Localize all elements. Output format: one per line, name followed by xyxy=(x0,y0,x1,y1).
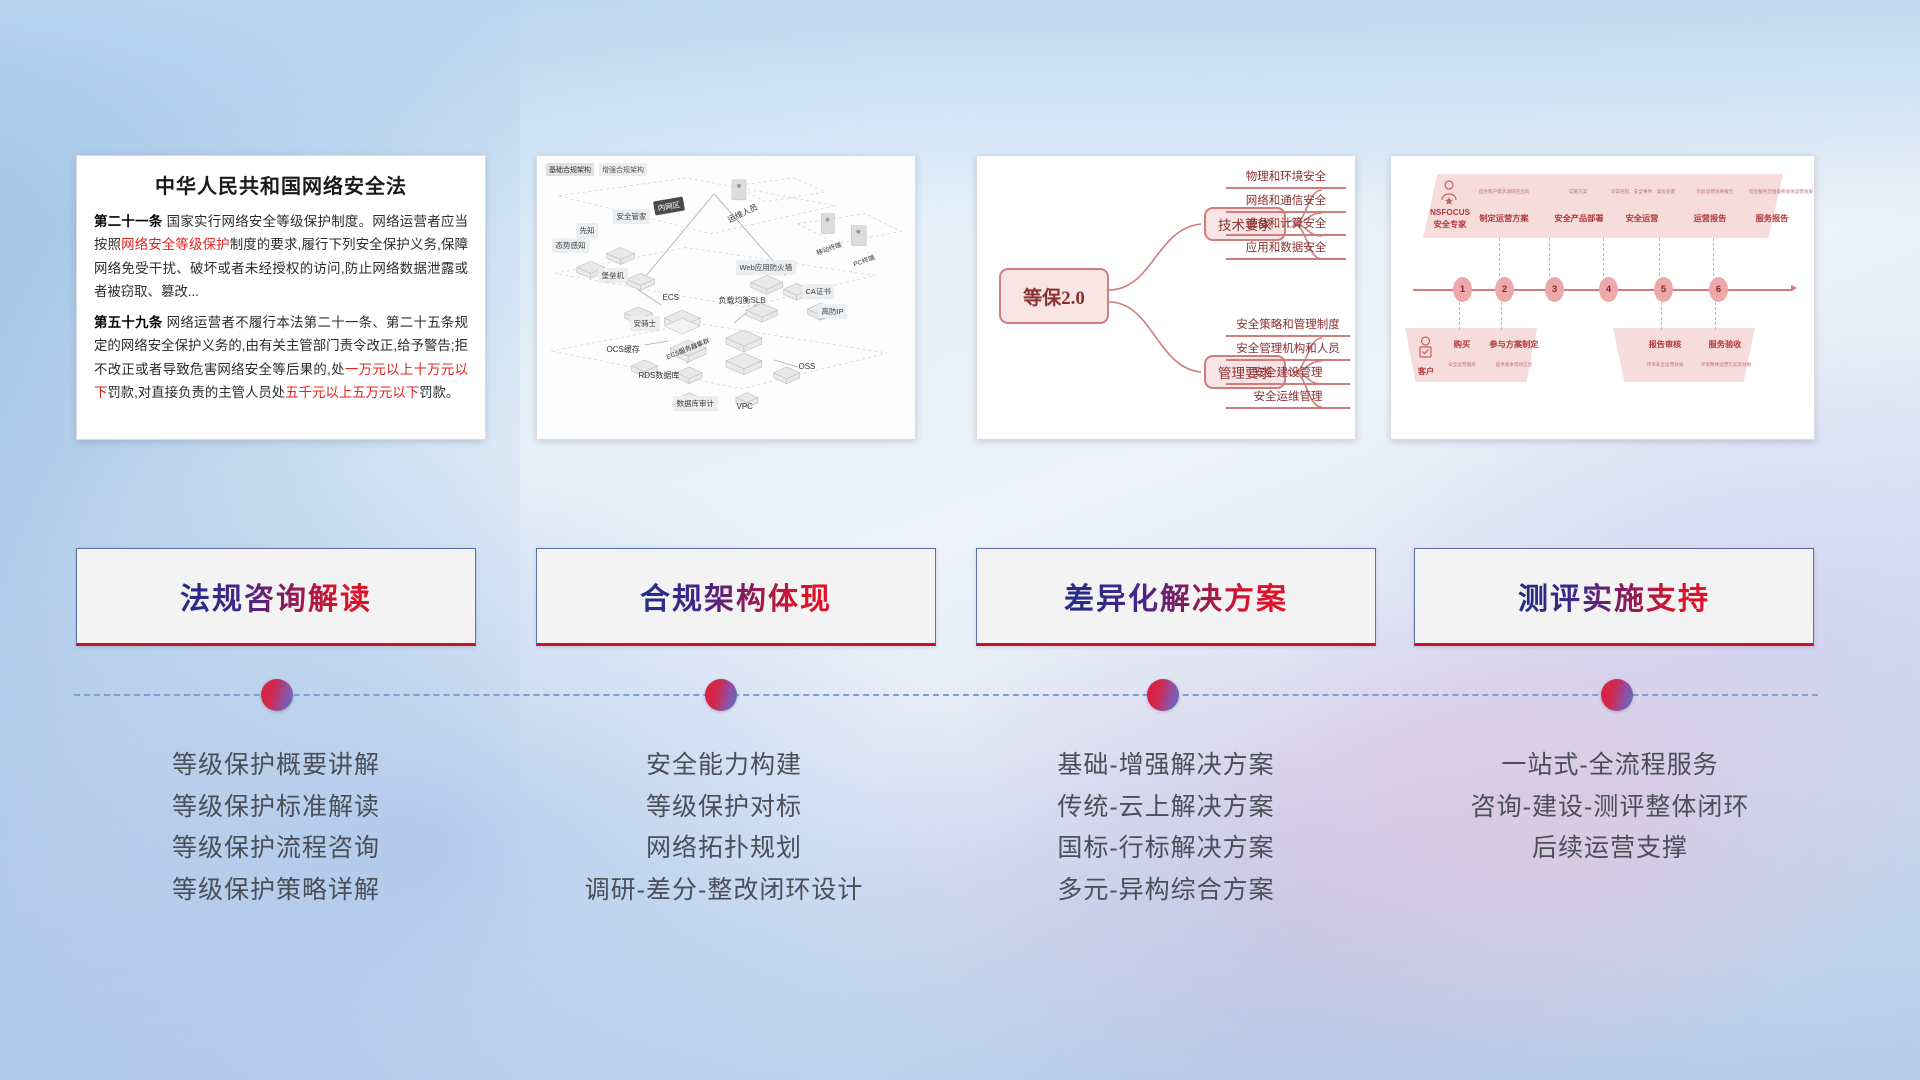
timeline-dot-1[interactable] xyxy=(261,679,293,711)
timeline-dot-4[interactable] xyxy=(1601,679,1633,711)
section-titles: 法规咨询解读 合规架构体现 差异化解决方案 测评实施支持 xyxy=(0,0,1920,1080)
list-item: 后续运营支撑 xyxy=(1410,828,1810,870)
list-item: 等级保护流程咨询 xyxy=(76,828,476,870)
list-item: 等级保护对标 xyxy=(524,787,924,829)
section-items-1: 等级保护概要讲解 等级保护标准解读 等级保护流程咨询 等级保护策略详解 xyxy=(76,745,476,911)
list-item: 基础-增强解决方案 xyxy=(966,745,1366,787)
section-title-box-4[interactable]: 测评实施支持 xyxy=(1414,548,1814,646)
timeline-rail xyxy=(74,694,1818,696)
list-item: 多元-异构综合方案 xyxy=(966,870,1366,912)
section-title-label-4: 测评实施支持 xyxy=(1518,574,1710,618)
list-item: 等级保护标准解读 xyxy=(76,787,476,829)
section-items-4: 一站式-全流程服务 咨询-建设-测评整体闭环 后续运营支撑 xyxy=(1410,745,1810,870)
section-title-box-1[interactable]: 法规咨询解读 xyxy=(76,548,476,646)
list-item: 咨询-建设-测评整体闭环 xyxy=(1410,787,1810,829)
timeline-dot-3[interactable] xyxy=(1147,679,1179,711)
list-item: 等级保护概要讲解 xyxy=(76,745,476,787)
timeline-dot-2[interactable] xyxy=(705,679,737,711)
list-item: 传统-云上解决方案 xyxy=(966,787,1366,829)
section-title-label-1: 法规咨询解读 xyxy=(180,574,372,618)
section-title-label-2: 合规架构体现 xyxy=(640,574,832,618)
section-title-box-3[interactable]: 差异化解决方案 xyxy=(976,548,1376,646)
list-item: 一站式-全流程服务 xyxy=(1410,745,1810,787)
section-title-box-2[interactable]: 合规架构体现 xyxy=(536,548,936,646)
list-item: 等级保护策略详解 xyxy=(76,870,476,912)
list-item: 国标-行标解决方案 xyxy=(966,828,1366,870)
list-item: 安全能力构建 xyxy=(524,745,924,787)
list-item: 网络拓扑规划 xyxy=(524,828,924,870)
section-items-3: 基础-增强解决方案 传统-云上解决方案 国标-行标解决方案 多元-异构综合方案 xyxy=(966,745,1366,911)
list-item: 调研-差分-整改闭环设计 xyxy=(524,870,924,912)
section-title-label-3: 差异化解决方案 xyxy=(1064,574,1288,618)
section-items-2: 安全能力构建 等级保护对标 网络拓扑规划 调研-差分-整改闭环设计 xyxy=(524,745,924,911)
